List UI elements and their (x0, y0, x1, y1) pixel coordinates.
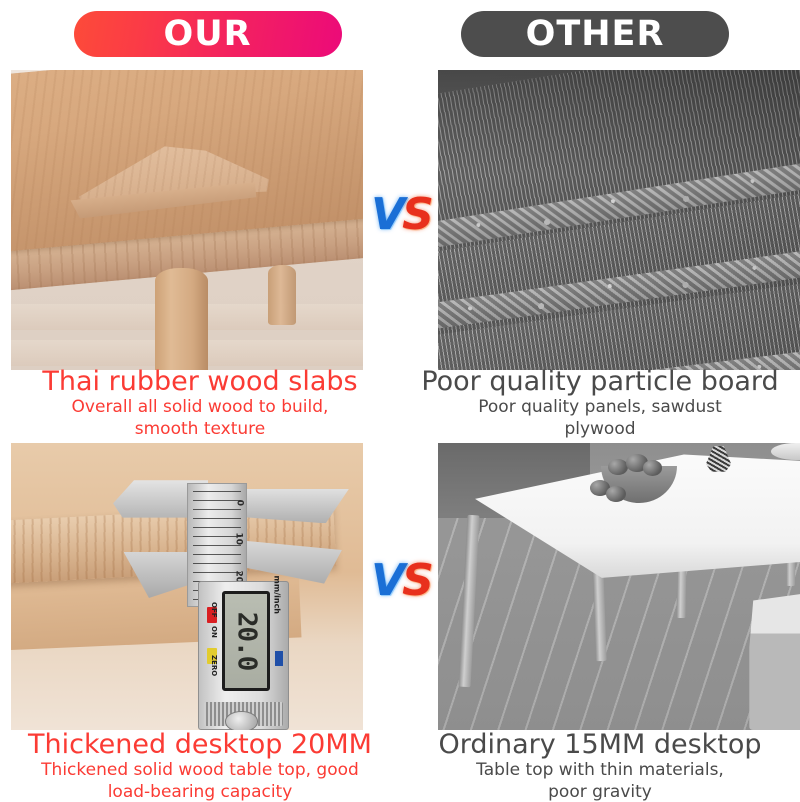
scene-caliper: 0 10 20 OFF ON ZERO 20.0 mm/inch (11, 443, 363, 730)
fruit (606, 486, 626, 502)
caption-top-left: Thai rubber wood slabs Overall all solid… (0, 368, 400, 439)
table-leg-rear (268, 265, 296, 325)
board-stack-shadow (438, 70, 800, 370)
vs-letter-s: S (402, 559, 431, 603)
caliper-unit-label: mm/inch (273, 576, 282, 614)
vs-letter-s: S (402, 193, 431, 237)
caliper-on-label: ON (210, 626, 218, 638)
caption-subtitle-line2: plywood (400, 420, 800, 440)
caption-subtitle-line1: Table top with thin materials, (400, 761, 800, 781)
caliper-body: OFF ON ZERO 20.0 mm/inch (198, 581, 290, 730)
caliper-off-label: OFF (210, 602, 218, 618)
photo-caliper-measurement: 0 10 20 OFF ON ZERO 20.0 mm/inch (11, 443, 363, 730)
scene-ordinary-table (438, 443, 800, 730)
our-badge-cell: OUR (0, 0, 400, 68)
photo-solid-wood-slab (11, 70, 363, 370)
vs-letter-v: V (371, 559, 402, 603)
comparison-infographic: OUR OTHER (0, 0, 800, 800)
our-badge: OUR (74, 11, 342, 57)
caliper-zero-label: ZERO (210, 655, 218, 676)
caption-subtitle-line2: smooth texture (0, 420, 400, 440)
other-badge-cell: OTHER (400, 0, 800, 68)
vs-badge-top: VS (368, 186, 434, 244)
caption-top-right: Poor quality particle board Poor quality… (400, 368, 800, 439)
caliper-tick-10: 10 (234, 532, 244, 545)
caption-subtitle-line1: Overall all solid wood to build, (0, 398, 400, 418)
scene-particle-board (438, 70, 800, 370)
caliper-unit-button[interactable] (275, 651, 283, 666)
table-leg-front (155, 268, 208, 370)
caption-subtitle-line2: poor gravity (400, 783, 800, 802)
vs-letter-v: V (371, 193, 402, 237)
scene-solid-wood (11, 70, 363, 370)
caption-title: Ordinary 15MM desktop (400, 731, 800, 759)
caption-subtitle-line1: Poor quality panels, sawdust (400, 398, 800, 418)
vs-badge-bottom: VS (368, 552, 434, 610)
photo-ordinary-table (438, 443, 800, 730)
photo-particle-board (438, 70, 800, 370)
caliper-battery-cap (225, 711, 257, 730)
fruit (608, 459, 628, 475)
caliper-lcd-screen: 20.0 (222, 591, 270, 691)
caption-title: Thai rubber wood slabs (0, 368, 400, 396)
caliper-measurement-value: 20.0 (231, 611, 261, 670)
other-badge: OTHER (461, 11, 729, 57)
dining-chair (749, 592, 800, 730)
caption-subtitle-line1: Thickened solid wood table top, good (0, 761, 400, 781)
caption-bottom-left: Thickened desktop 20MM Thickened solid w… (0, 731, 400, 802)
caption-title: Poor quality particle board (400, 368, 800, 396)
fruit (643, 460, 663, 476)
caliper-tick-0: 0 (234, 500, 244, 506)
caption-subtitle-line2: load-bearing capacity (0, 783, 400, 802)
caption-title: Thickened desktop 20MM (0, 731, 400, 759)
caption-bottom-right: Ordinary 15MM desktop Table top with thi… (400, 731, 800, 802)
header-badge-row: OUR OTHER (0, 0, 800, 68)
